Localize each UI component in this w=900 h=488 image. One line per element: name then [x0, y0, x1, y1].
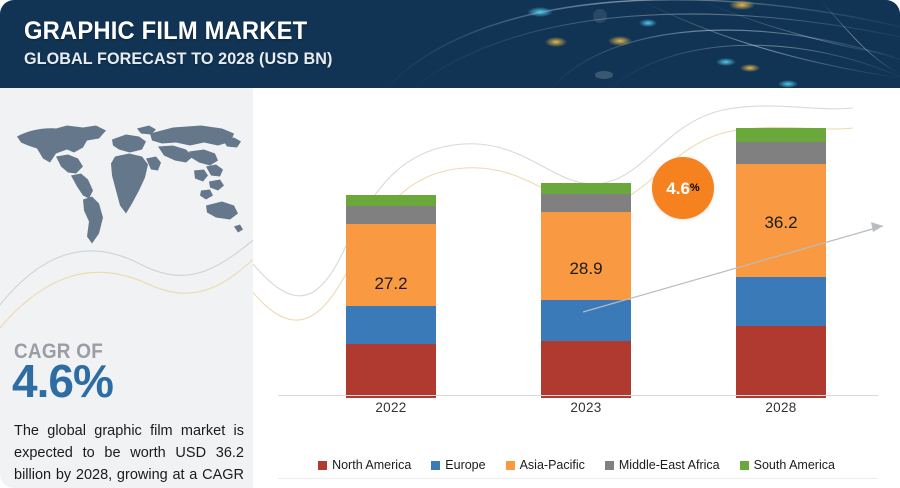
legend-label: South America: [754, 458, 835, 472]
decorative-waves-sidebar: [0, 198, 253, 348]
bar-total-2022: 27.2: [311, 274, 471, 294]
page-title: GRAPHIC FILM MARKET: [24, 18, 332, 44]
page-subtitle: GLOBAL FORECAST TO 2028 (USD BN): [24, 49, 332, 69]
callout-leader-line: [583, 208, 900, 318]
segment-north-america: [736, 326, 826, 398]
cagr-callout-value: 4.6: [666, 180, 690, 197]
legend-label: North America: [332, 458, 411, 472]
legend-swatch-icon: [318, 461, 327, 470]
legend-swatch-icon: [506, 461, 515, 470]
segment-europe: [346, 306, 436, 344]
legend-item[interactable]: North America: [318, 458, 411, 472]
x-label-2022: 2022: [311, 400, 471, 415]
segment-south-america: [736, 128, 826, 142]
cagr-value: 4.6%: [12, 358, 113, 404]
legend-item[interactable]: Middle-East Africa: [605, 458, 720, 472]
legend-swatch-icon: [605, 461, 614, 470]
legend-item[interactable]: Asia-Pacific: [506, 458, 585, 472]
legend-swatch-icon: [431, 461, 440, 470]
x-label-2023: 2023: [506, 400, 666, 415]
segment-middle-east-africa: [736, 142, 826, 164]
legend-item[interactable]: Europe: [431, 458, 485, 472]
segment-south-america: [346, 195, 436, 206]
legend-label: Middle-East Africa: [619, 458, 720, 472]
x-axis-labels: 2022 2023 2028: [253, 400, 900, 426]
chart-legend: North AmericaEuropeAsia-PacificMiddle-Ea…: [253, 450, 900, 480]
infographic-page: GRAPHIC FILM MARKET GLOBAL FORECAST TO 2…: [0, 0, 900, 488]
segment-north-america: [541, 341, 631, 398]
header-banner: GRAPHIC FILM MARKET GLOBAL FORECAST TO 2…: [0, 0, 900, 88]
legend-label: Europe: [445, 458, 485, 472]
legend-swatch-icon: [740, 461, 749, 470]
header-text-block: GRAPHIC FILM MARKET GLOBAL FORECAST TO 2…: [24, 18, 349, 69]
chart-panel: 27.2 28.9 36.2 4.6% 2022 2023 2028: [253, 88, 900, 488]
bar-stack-2022[interactable]: [346, 195, 436, 398]
cagr-callout-bubble[interactable]: 4.6%: [652, 157, 714, 219]
cagr-callout-unit: %: [690, 182, 700, 194]
x-label-2028: 2028: [701, 400, 861, 415]
segment-middle-east-africa: [346, 206, 436, 223]
legend-label: Asia-Pacific: [520, 458, 585, 472]
sidebar-panel: CAGR OF 4.6% The global graphic film mar…: [0, 88, 253, 488]
x-axis-line: [278, 395, 878, 396]
legend-item[interactable]: South America: [740, 458, 835, 472]
segment-south-america: [541, 183, 631, 195]
segment-north-america: [346, 344, 436, 398]
sidebar-description: The global graphic film market is expect…: [14, 420, 244, 488]
